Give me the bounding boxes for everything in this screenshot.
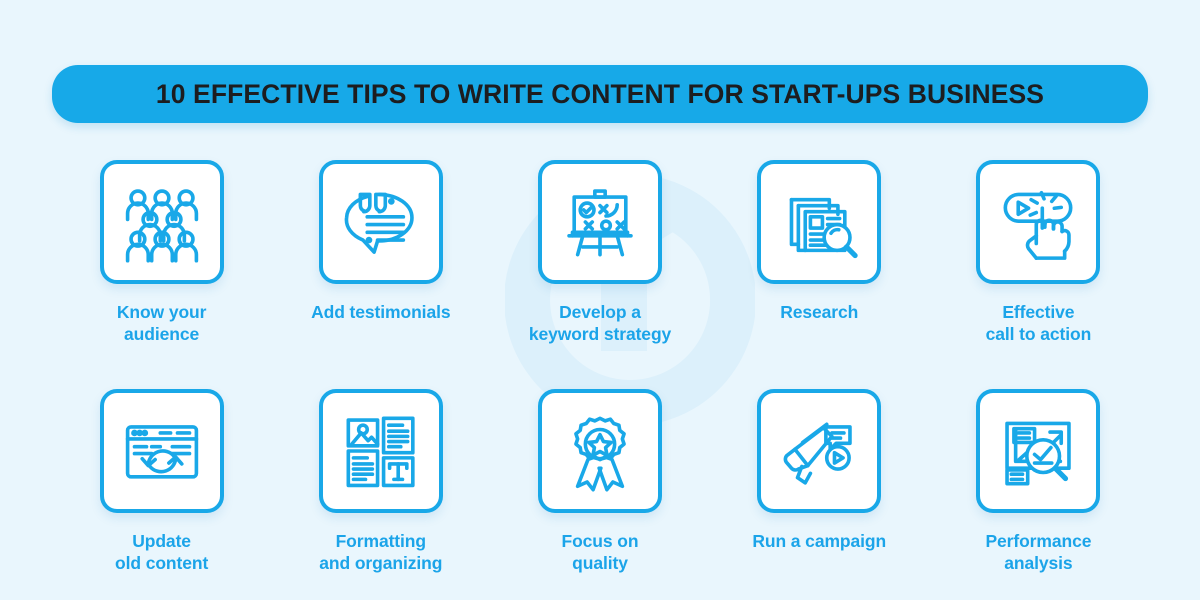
tip-item-develop-keyword-strategy[interactable]: Develop a keyword strategy xyxy=(490,160,709,385)
quote-speech-bubble-icon xyxy=(338,179,424,265)
documents-magnifier-icon xyxy=(776,179,862,265)
tip-label: Update old content xyxy=(115,530,208,574)
tip-card[interactable] xyxy=(538,389,662,513)
tip-item-research[interactable]: Research xyxy=(710,160,929,385)
tip-card[interactable] xyxy=(319,160,443,284)
tip-item-focus-on-quality[interactable]: Focus on quality xyxy=(490,385,709,600)
tip-item-effective-call-to-action[interactable]: Effective call to action xyxy=(929,160,1148,385)
infographic-poster: 10 EFFECTIVE TIPS TO WRITE CONTENT FOR S… xyxy=(0,0,1200,600)
tips-grid: Know your audience xyxy=(52,160,1148,600)
page-title: 10 EFFECTIVE TIPS TO WRITE CONTENT FOR S… xyxy=(156,79,1044,110)
tip-label: Formatting and organizing xyxy=(319,530,442,574)
tip-card[interactable] xyxy=(976,160,1100,284)
megaphone-campaign-icon xyxy=(776,408,862,494)
tip-item-run-a-campaign[interactable]: Run a campaign xyxy=(710,385,929,600)
tip-card[interactable] xyxy=(100,389,224,513)
tip-item-add-testimonials[interactable]: Add testimonials xyxy=(271,160,490,385)
browser-refresh-icon xyxy=(119,408,205,494)
audience-people-icon xyxy=(119,179,205,265)
tip-label: Know your audience xyxy=(117,301,207,345)
tip-item-update-old-content[interactable]: Update old content xyxy=(52,385,271,600)
tip-card[interactable] xyxy=(976,389,1100,513)
layout-panels-typography-icon xyxy=(338,408,424,494)
tip-card[interactable] xyxy=(319,389,443,513)
tip-label: Research xyxy=(780,301,858,323)
tip-label: Focus on quality xyxy=(562,530,639,574)
award-ribbon-star-icon xyxy=(557,408,643,494)
tip-item-know-your-audience[interactable]: Know your audience xyxy=(52,160,271,385)
tip-card[interactable] xyxy=(757,160,881,284)
tip-label: Performance analysis xyxy=(985,530,1091,574)
tip-label: Effective call to action xyxy=(986,301,1092,345)
title-banner: 10 EFFECTIVE TIPS TO WRITE CONTENT FOR S… xyxy=(52,65,1148,123)
tip-card[interactable] xyxy=(100,160,224,284)
tip-card[interactable] xyxy=(538,160,662,284)
tip-card[interactable] xyxy=(757,389,881,513)
strategy-easel-board-icon xyxy=(557,179,643,265)
tip-label: Develop a keyword strategy xyxy=(529,301,671,345)
click-button-hand-icon xyxy=(995,179,1081,265)
chart-growth-magnifier-icon xyxy=(995,408,1081,494)
tip-label: Run a campaign xyxy=(752,530,886,552)
tip-label: Add testimonials xyxy=(311,301,450,323)
tip-item-performance-analysis[interactable]: Performance analysis xyxy=(929,385,1148,600)
tip-item-formatting-and-organizing[interactable]: Formatting and organizing xyxy=(271,385,490,600)
